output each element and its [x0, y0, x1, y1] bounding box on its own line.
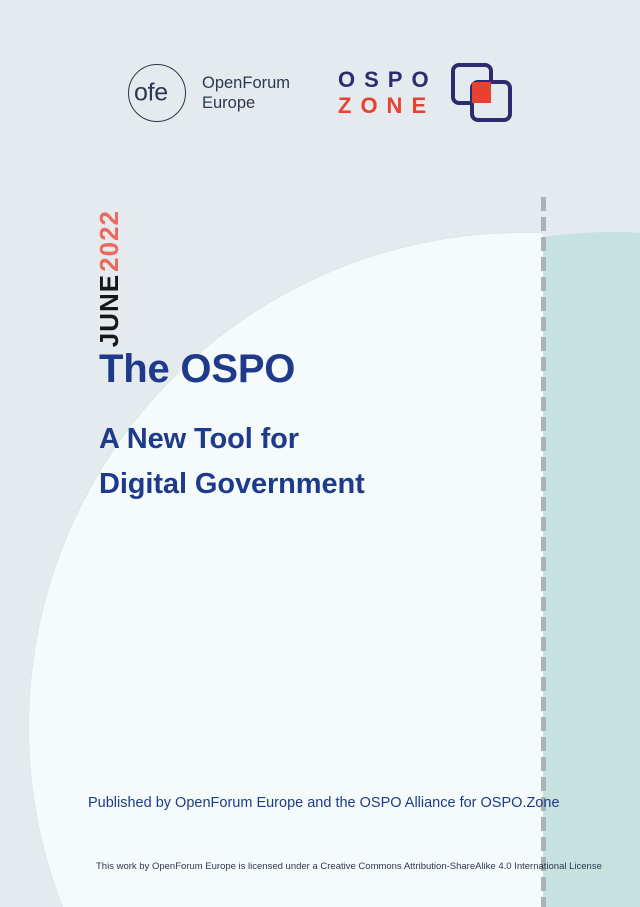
date-month: JUNE: [96, 274, 123, 347]
subtitle-line-1: A New Tool for: [99, 417, 529, 462]
ofe-monogram-label: ofe: [134, 79, 168, 108]
zone-word: ZONE: [338, 93, 438, 119]
document-cover-page: ofe OpenForum Europe OSPO ZONE: [0, 0, 640, 907]
logo-row: ofe OpenForum Europe OSPO ZONE: [0, 0, 640, 160]
overlapping-squares-icon: [450, 62, 516, 124]
ospo-zone-logo: OSPO ZONE: [338, 62, 516, 124]
date-year: 2022: [96, 210, 123, 272]
ofe-circle-icon: ofe: [128, 64, 186, 122]
subtitle-line-2: Digital Government: [99, 462, 529, 507]
page-title: The OSPO: [99, 345, 529, 393]
publisher-line: Published by OpenForum Europe and the OS…: [88, 795, 560, 811]
openforum-europe-wordmark: OpenForum Europe: [202, 73, 290, 113]
ospo-zone-wordmark: OSPO ZONE: [338, 67, 438, 119]
openforum-line1: OpenForum: [202, 73, 290, 93]
publication-date: JUNE 2022: [96, 210, 166, 310]
openforum-europe-logo: ofe OpenForum Europe: [128, 64, 290, 122]
license-line: This work by OpenForum Europe is license…: [96, 861, 602, 872]
page-subtitle: A New Tool for Digital Government: [99, 417, 529, 507]
openforum-line2: Europe: [202, 93, 290, 113]
title-block: The OSPO A New Tool for Digital Governme…: [99, 345, 529, 507]
date-rotated-wrapper: JUNE 2022: [96, 210, 123, 347]
ospo-word: OSPO: [338, 67, 438, 93]
